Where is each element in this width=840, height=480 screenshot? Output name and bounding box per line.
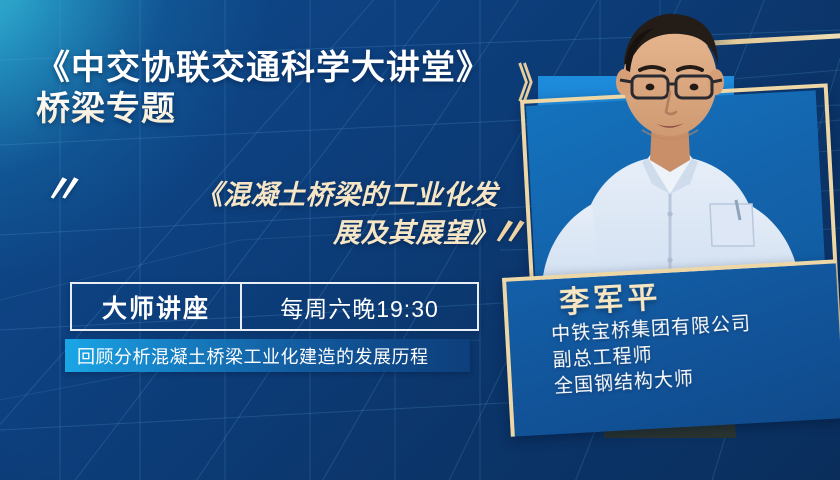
subtitle-line-1: 《混凝土桥梁的工业化发 [78,176,498,214]
lecture-schedule-box: 大师讲座 每周六晚19:30 [70,282,479,331]
lecture-time-label: 每周六晚19:30 [242,290,477,324]
lecture-subtitle: 《混凝土桥梁的工业化发 展及其展望》 [78,176,498,253]
title-line-1: 《中交协联交通科学大讲堂》 [36,49,491,87]
description-text: 回顾分析混凝土桥梁工业化建造的发展历程 [65,343,429,369]
description-bar: 回顾分析混凝土桥梁工业化建造的发展历程 [65,339,470,372]
speaker-nameplate: 李军平 中铁宝桥集团有限公司 副总工程师 全国钢结构大师 [502,259,840,436]
page-title: 《中交协联交通科学大讲堂》 桥梁专题 [36,48,506,131]
lecture-type-label: 大师讲座 [72,284,242,329]
title-line-2: 桥梁专题 [36,89,506,130]
right-speaker-column: 》 [490,0,840,480]
poster-canvas: 《中交协联交通科学大讲堂》 桥梁专题 〃 《混凝土桥梁的工业化发 展及其展望》 … [0,0,840,480]
left-content-column: 《中交协联交通科学大讲堂》 桥梁专题 〃 《混凝土桥梁的工业化发 展及其展望》 … [0,0,520,480]
subtitle-line-2: 展及其展望》 [78,214,498,252]
quote-open-icon: 〃 [41,170,81,210]
